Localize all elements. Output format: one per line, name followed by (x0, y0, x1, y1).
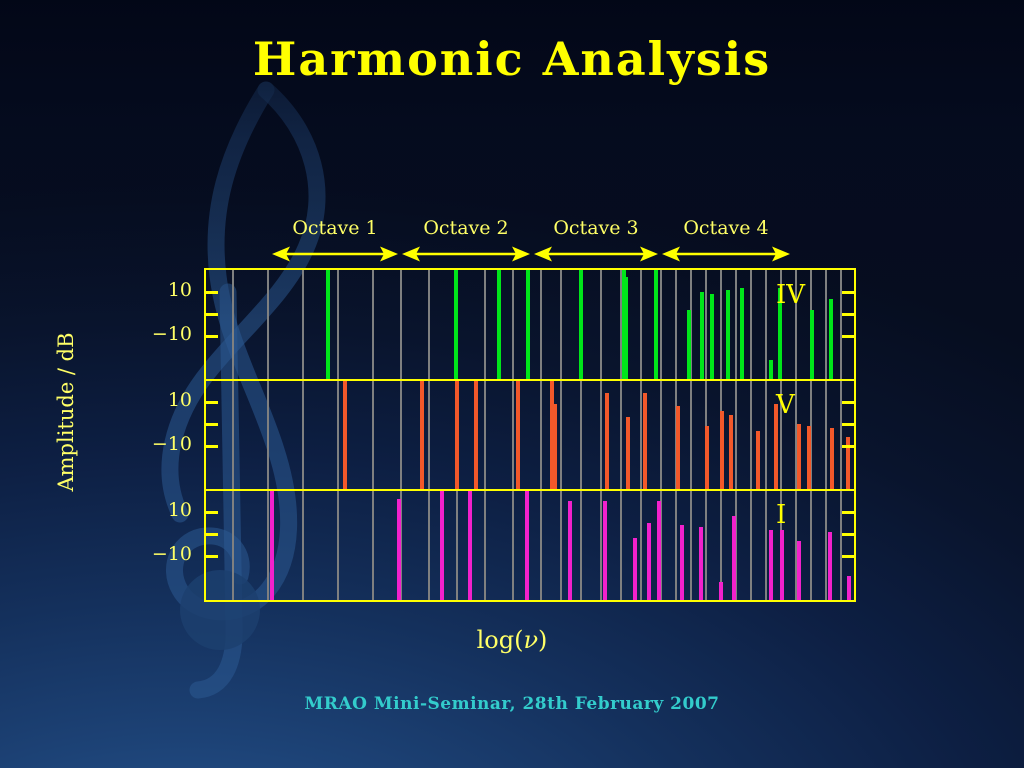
gridline (580, 490, 582, 600)
axis-tick (204, 533, 218, 536)
spectrum-bar (440, 490, 444, 600)
gridline (705, 490, 707, 600)
gridline (372, 490, 374, 600)
gridline (302, 380, 304, 490)
spectrum-bar (769, 530, 773, 600)
y-tick-label: −10 (112, 433, 192, 455)
spectrum-bar (810, 310, 814, 380)
gridline (675, 270, 677, 380)
gridline (484, 380, 486, 490)
gridline (690, 380, 692, 490)
gridline (580, 380, 582, 490)
axis-tick (842, 313, 856, 316)
gridline (660, 380, 662, 490)
x-axis-label-suffix: ) (538, 626, 547, 654)
gridline (840, 380, 842, 490)
spectrum-bar (525, 490, 529, 600)
axis-tick (842, 291, 856, 294)
octave-arrow-4 (662, 246, 790, 262)
gridline (337, 380, 339, 490)
spectrum-bar (474, 380, 478, 490)
slide-footer: MRAO Mini-Seminar, 28th February 2007 (0, 694, 1024, 714)
y-tick-label: −10 (112, 543, 192, 565)
spectrum-bar (397, 499, 401, 600)
gridline (690, 490, 692, 600)
gridline (840, 490, 842, 600)
gridline (600, 380, 602, 490)
gridline (720, 270, 722, 380)
gridline (540, 490, 542, 600)
gridline (825, 380, 827, 490)
axis-tick (842, 533, 856, 536)
gridline (750, 270, 752, 380)
gridline (735, 270, 737, 380)
gridline (765, 490, 767, 600)
spectrum-panel-V (206, 380, 854, 490)
spectrum-bar (720, 411, 724, 490)
spectrum-bar (705, 426, 709, 490)
y-axis-label: Amplitude / dB (54, 282, 78, 542)
gridline (810, 490, 812, 600)
gridline (620, 490, 622, 600)
spectrum-bar (769, 360, 773, 380)
gridline (337, 490, 339, 600)
spectrum-bar (647, 523, 651, 600)
spectrum-bar (468, 490, 472, 600)
spectrum-bar (780, 530, 784, 600)
gridline (512, 380, 514, 490)
gridline (540, 380, 542, 490)
spectrum-panel-IV (206, 270, 854, 380)
spectrum-bar (633, 538, 637, 600)
gridline (640, 270, 642, 380)
axis-tick (842, 445, 856, 448)
gridline (765, 270, 767, 380)
gridline (267, 380, 269, 490)
x-axis-label-prefix: log( (477, 626, 524, 654)
panel-label-V: V (776, 390, 795, 420)
gridline (750, 490, 752, 600)
spectrum-bar (699, 527, 703, 600)
gridline (302, 270, 304, 380)
spectrum-bar (830, 428, 834, 490)
gridline (512, 490, 514, 600)
gridline (640, 490, 642, 600)
spectrum-bar (756, 431, 760, 490)
spectrum-bar (797, 541, 801, 600)
axis-tick (204, 423, 218, 426)
gridline (428, 270, 430, 380)
spectrum-bar (847, 576, 851, 600)
spectrum-bar (807, 426, 811, 490)
axis-tick (204, 511, 218, 514)
octave-arrow-3 (534, 246, 658, 262)
spectrum-bar (420, 380, 424, 490)
gridline (302, 490, 304, 600)
octave-arrow-2 (402, 246, 530, 262)
gridline (600, 270, 602, 380)
gridline (825, 270, 827, 380)
spectrum-bar (454, 270, 458, 380)
axis-tick (204, 401, 218, 404)
axis-tick (842, 335, 856, 338)
gridline (232, 490, 234, 600)
gridline (560, 270, 562, 380)
harmonic-spectrum-plot: IVVI (204, 268, 856, 602)
y-tick-label: 10 (112, 279, 192, 301)
spectrum-bar (828, 532, 832, 600)
panel-divider (206, 489, 854, 491)
gridline (400, 380, 402, 490)
gridline (484, 270, 486, 380)
spectrum-bar (676, 406, 680, 490)
spectrum-bar (624, 277, 628, 380)
spectrum-bar (497, 270, 501, 380)
axis-tick (842, 423, 856, 426)
octave-label-4: Octave 4 (636, 217, 816, 239)
spectrum-bar (740, 288, 744, 380)
spectrum-bar (579, 270, 583, 380)
gridline (705, 270, 707, 380)
y-tick-label: 10 (112, 389, 192, 411)
spectrum-bar (343, 380, 347, 490)
gridline (560, 380, 562, 490)
gridline (372, 380, 374, 490)
spectrum-panel-I (206, 490, 854, 600)
spectrum-bar (797, 424, 801, 490)
axis-tick (204, 313, 218, 316)
axis-tick (842, 401, 856, 404)
gridline (540, 270, 542, 380)
spectrum-bar (526, 270, 530, 380)
panel-divider (206, 379, 854, 381)
panel-label-I: I (776, 500, 786, 530)
spectrum-bar (700, 292, 704, 380)
x-axis-label-nu-symbol: ν (523, 626, 538, 654)
spectrum-bar (657, 501, 661, 600)
panel-label-IV: IV (776, 280, 805, 310)
spectrum-bar (326, 270, 330, 380)
axis-tick (204, 555, 218, 558)
gridline (232, 380, 234, 490)
gridline (660, 270, 662, 380)
spectrum-bar (680, 525, 684, 600)
spectrum-bar (726, 290, 730, 380)
gridline (600, 490, 602, 600)
axis-tick (842, 555, 856, 558)
spectrum-bar (732, 516, 736, 600)
spectrum-bar (603, 501, 607, 600)
gridline (456, 490, 458, 600)
spectrum-bar (626, 417, 630, 490)
octave-arrow-1 (272, 246, 398, 262)
spectrum-bar (568, 501, 572, 600)
spectrum-bar (643, 393, 647, 490)
gridline (560, 490, 562, 600)
spectrum-bar (605, 393, 609, 490)
gridline (428, 380, 430, 490)
gridline (735, 380, 737, 490)
spectrum-bar (553, 404, 557, 490)
axis-tick (204, 445, 218, 448)
gridline (750, 380, 752, 490)
spectrum-bar (516, 380, 520, 490)
y-tick-label: 10 (112, 499, 192, 521)
axis-tick (204, 291, 218, 294)
gridline (337, 270, 339, 380)
gridline (512, 270, 514, 380)
spectrum-bar (455, 380, 459, 490)
spectrum-bar (829, 299, 833, 380)
page-title: Harmonic Analysis (0, 32, 1024, 86)
gridline (640, 380, 642, 490)
y-tick-label: −10 (112, 323, 192, 345)
slide-root: Harmonic Analysis Octave 1Octave 2Octave… (0, 0, 1024, 768)
gridline (372, 270, 374, 380)
axis-tick (204, 335, 218, 338)
x-axis-label: log(ν) (0, 626, 1024, 654)
axis-tick (842, 511, 856, 514)
gridline (267, 270, 269, 380)
spectrum-bar (654, 270, 658, 380)
spectrum-bar (729, 415, 733, 490)
gridline (825, 490, 827, 600)
gridline (840, 270, 842, 380)
gridline (620, 380, 622, 490)
gridline (232, 270, 234, 380)
gridline (428, 490, 430, 600)
gridline (675, 490, 677, 600)
gridline (400, 270, 402, 380)
spectrum-bar (710, 294, 714, 380)
spectrum-bar (719, 582, 723, 600)
gridline (267, 490, 269, 600)
spectrum-bar (687, 310, 691, 380)
gridline (765, 380, 767, 490)
spectrum-bar (270, 490, 274, 600)
gridline (484, 490, 486, 600)
